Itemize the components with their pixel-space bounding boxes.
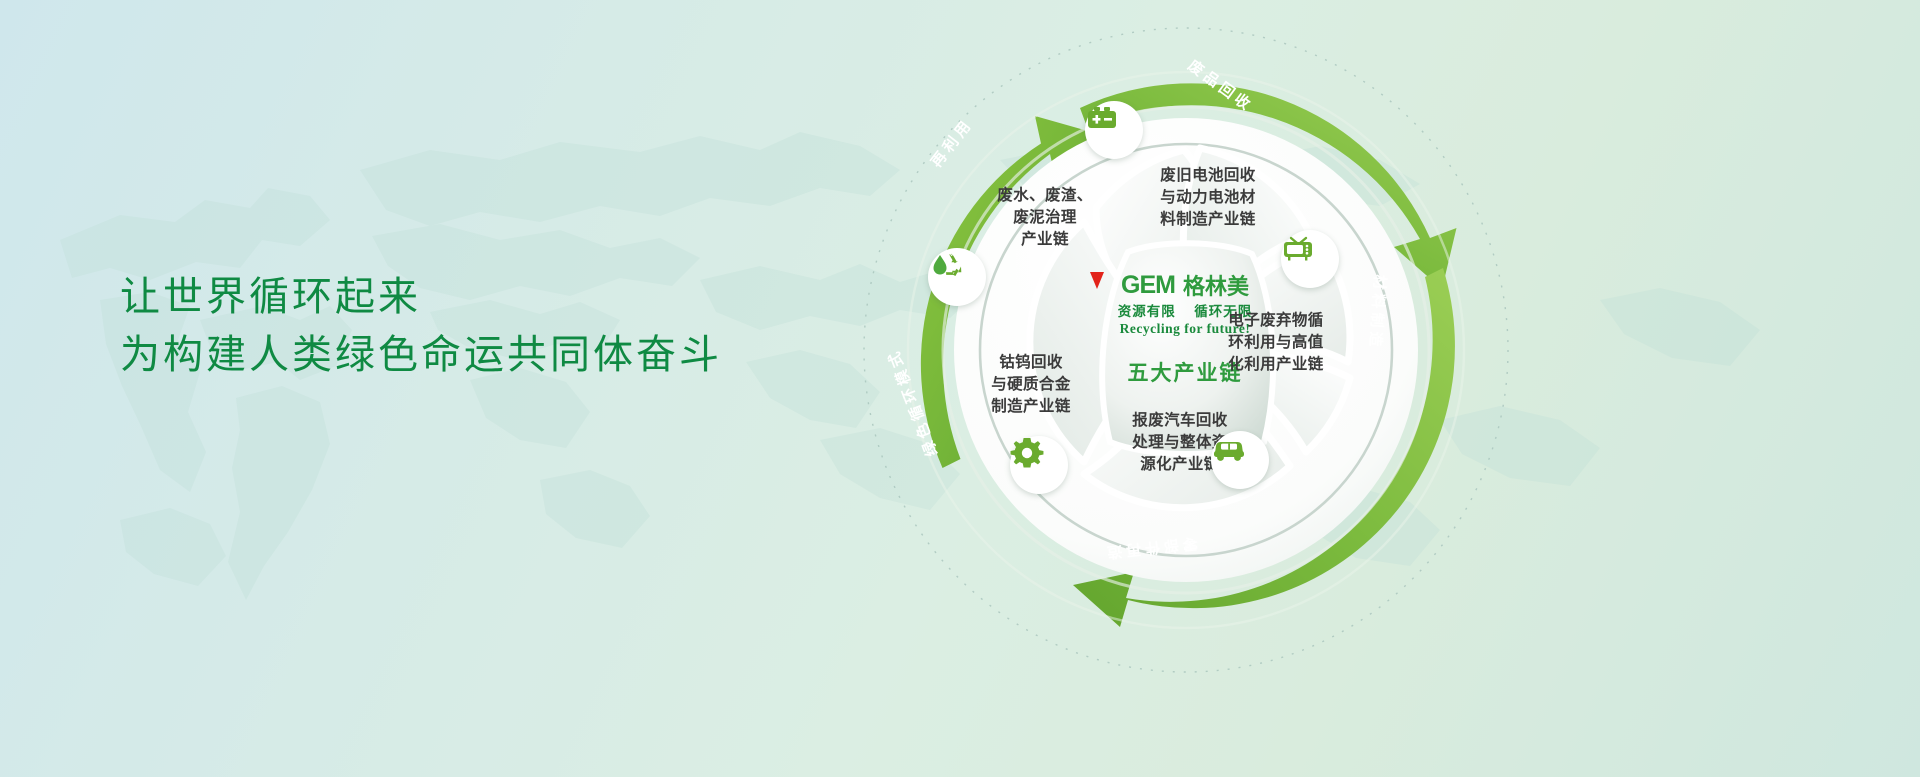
car-icon [1211, 431, 1247, 465]
television-icon [1281, 230, 1315, 264]
car-icon-badge [1211, 431, 1269, 489]
five-industry-chain-diagram: GEM 格林美 资源有限 循环无限 Recycling for future! … [828, 0, 1728, 777]
segment-label-ewaste: 电子废弃物循 环利用与高值 化利用产业链 [1196, 310, 1356, 376]
segment-label-battery: 废旧电池回收 与动力电池材 料制造产业链 [1128, 165, 1288, 231]
slogan-block: 让世界循环起来 为构建人类绿色命运共同体奋斗 [120, 268, 880, 384]
battery-icon-badge [1085, 101, 1143, 159]
gear-icon-badge [1010, 436, 1068, 494]
logo-brand-cn: 格林美 [1183, 269, 1249, 301]
slogan-line-2: 为构建人类绿色命运共同体奋斗 [120, 326, 880, 384]
segment-label-cobalt-tungsten: 钴钨回收 与硬质合金 制造产业链 [956, 352, 1106, 418]
segment-label-wastewater: 废水、废渣、 废泥治理 产业链 [970, 185, 1120, 251]
logo-brand-en: GEM [1121, 271, 1175, 300]
recycle-drop-icon [928, 248, 964, 282]
battery-icon [1085, 101, 1119, 135]
television-icon-badge [1281, 230, 1339, 288]
logo-tagline-left: 资源有限 [1118, 304, 1176, 319]
recycle-drop-icon-badge [928, 248, 986, 306]
gear-icon [1010, 436, 1044, 470]
slogan-line-1: 让世界循环起来 [120, 268, 880, 326]
